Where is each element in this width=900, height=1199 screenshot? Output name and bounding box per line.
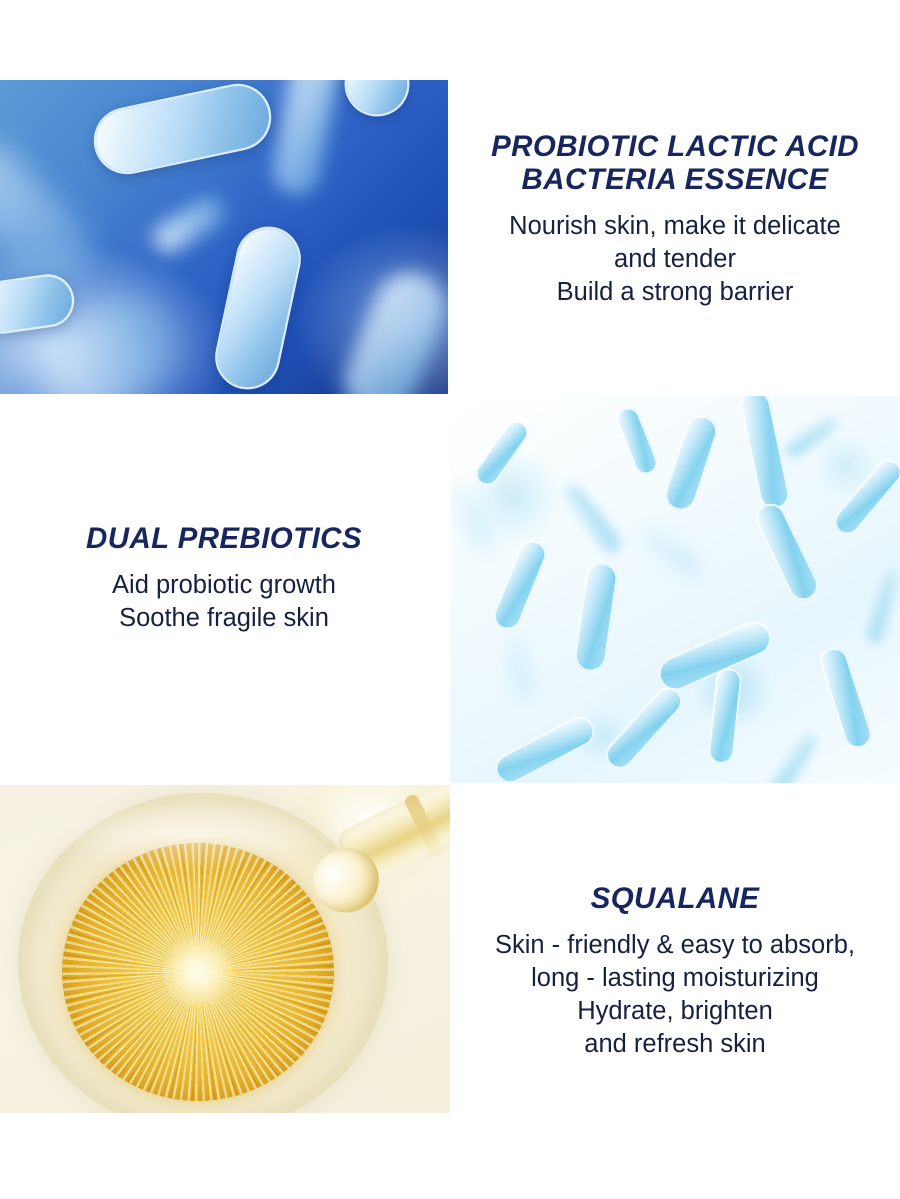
squalane-oil-photo xyxy=(0,785,450,1113)
squalane-heading: SQUALANE xyxy=(450,882,900,915)
bacteria-rod xyxy=(0,274,75,335)
prebiotics-description: Aid probiotic growth Soothe fragile skin xyxy=(0,569,448,635)
prebiotics-text-block: DUAL PREBIOTICS Aid probiotic growth Soo… xyxy=(0,522,448,635)
bacteria-rod xyxy=(500,633,535,702)
bacteria-rod xyxy=(779,408,843,465)
bacteria-rod xyxy=(148,192,230,259)
oil-drop xyxy=(62,843,334,1101)
bacteria-rod xyxy=(334,262,448,394)
bacteria-rod xyxy=(270,80,342,199)
probiotic-heading: PROBIOTIC LACTIC ACID BACTERIA ESSENCE xyxy=(450,130,900,196)
squalane-description: Skin - friendly & easy to absorb, long -… xyxy=(450,929,900,1062)
bacteria-rod xyxy=(90,80,274,177)
bacteria-rod xyxy=(661,411,722,514)
prebiotics-heading: DUAL PREBIOTICS xyxy=(0,522,448,555)
bacteria-rod xyxy=(489,536,550,634)
bacteria-rod xyxy=(817,644,876,752)
bacteria-rod xyxy=(573,560,620,673)
bacteria-rod xyxy=(490,711,599,783)
bacteria-rod xyxy=(829,454,900,540)
probiotic-bacteria-photo xyxy=(0,80,448,394)
prebiotic-bacteria-photo xyxy=(450,396,900,783)
infographic-page: PROBIOTIC LACTIC ACID BACTERIA ESSENCE N… xyxy=(0,0,900,1199)
bacteria-rod xyxy=(347,80,407,114)
bacteria-rod xyxy=(635,526,708,583)
bacteria-rod xyxy=(862,565,900,648)
bacteria-rod xyxy=(553,478,628,561)
bacteria-rod xyxy=(613,404,661,478)
bacteria-rod xyxy=(600,681,688,774)
bacteria-rod xyxy=(471,416,533,490)
bacteria-rod xyxy=(450,485,498,557)
bacteria-rod xyxy=(762,725,822,783)
bacteria-rod xyxy=(707,667,743,765)
squalane-text-block: SQUALANE Skin - friendly & easy to absor… xyxy=(450,882,900,1062)
probiotic-description: Nourish skin, make it delicate and tende… xyxy=(450,210,900,309)
bacteria-rod xyxy=(751,499,824,606)
probiotic-text-block: PROBIOTIC LACTIC ACID BACTERIA ESSENCE N… xyxy=(450,130,900,309)
bacteria-rod xyxy=(212,224,304,393)
oil-center-highlight xyxy=(163,937,233,1007)
